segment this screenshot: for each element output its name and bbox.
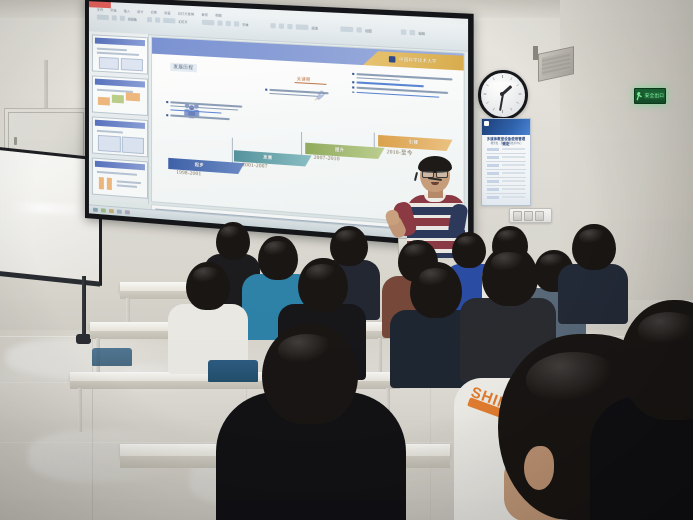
- timeline-year-4: 2010-至今: [387, 148, 413, 157]
- brand-tag-label: 中国科学技术大学: [399, 57, 437, 65]
- notice-poster: 多媒体教室设备使用管理规定 教务处 · 现代教育技术中心: [481, 118, 531, 206]
- exit-sign: 安全出口: [634, 88, 666, 104]
- status-icon-4[interactable]: [117, 210, 122, 214]
- slide-bullets-right: [356, 73, 456, 101]
- ribbon-tab-insert[interactable]: 插入: [124, 9, 130, 13]
- slide-thumbnail[interactable]: [92, 157, 148, 198]
- poster-subtitle: 教务处 · 现代教育技术中心: [488, 141, 524, 145]
- ribbon-group-label-drawing: 绘图: [365, 28, 371, 32]
- slide-thumbnail-pane[interactable]: [89, 31, 149, 204]
- slide-section-label: 发展历程: [170, 63, 196, 73]
- ribbon-group-drawing[interactable]: 绘图: [340, 26, 371, 33]
- running-man-icon: [636, 92, 643, 101]
- clock-minute-hand: [499, 94, 504, 111]
- light-switch-2[interactable]: [524, 211, 533, 221]
- poster-header-band: [482, 119, 530, 135]
- ribbon-tab-transitions[interactable]: 切换: [151, 10, 157, 14]
- status-icon-3[interactable]: [109, 209, 114, 213]
- timeline-label-2: 发展: [263, 154, 272, 161]
- light-switch-3[interactable]: [535, 211, 544, 221]
- status-icon-2[interactable]: [101, 208, 106, 212]
- slide-center-underline: [295, 82, 327, 85]
- ribbon-group-slides[interactable]: 幻灯片: [147, 17, 188, 24]
- ribbon-tab-animations[interactable]: 动画: [164, 11, 171, 15]
- light-switch-1[interactable]: [513, 211, 522, 221]
- ribbon-group-label-paragraph: 段落: [312, 26, 318, 30]
- ribbon-tab-design[interactable]: 设计: [137, 9, 143, 13]
- headset-mic-boom: [414, 172, 418, 181]
- timeline-label-4: 引领: [409, 139, 419, 146]
- student-ear: [524, 446, 554, 490]
- timeline-label-1: 起步: [195, 162, 204, 169]
- ribbon-tab-view[interactable]: 视图: [215, 13, 222, 17]
- status-icon-5[interactable]: [125, 210, 130, 214]
- whiteboard-glare: [11, 201, 85, 215]
- timeline-year-3: 2007-2010: [314, 156, 340, 163]
- ribbon-group-label-slides: 幻灯片: [178, 19, 187, 24]
- timeline-year-2: 2001-2007: [242, 163, 267, 170]
- ribbon-group-clipboard[interactable]: 剪贴板: [97, 15, 137, 22]
- slide-thumbnail[interactable]: [92, 75, 148, 116]
- light-switch-panel[interactable]: [509, 208, 552, 223]
- ribbon-tab-review[interactable]: 审阅: [201, 13, 208, 17]
- ribbon-group-paragraph[interactable]: 段落: [270, 23, 318, 30]
- wall-conduit: [44, 60, 48, 110]
- exit-sign-label: 安全出口: [645, 93, 665, 99]
- ribbon-group-label-font: 字体: [242, 22, 248, 26]
- ribbon-group-font[interactable]: 字体: [202, 20, 249, 27]
- whiteboard-caster: [76, 334, 91, 344]
- desk-leg: [378, 338, 382, 374]
- eyeglasses-right-lens: [436, 171, 448, 178]
- chair-back: [92, 348, 132, 366]
- ribbon-group-label-clipboard: 剪贴板: [128, 17, 137, 21]
- cabinet-lock-icon[interactable]: [14, 137, 17, 145]
- timeline-year-1: 1998-2001: [176, 171, 201, 178]
- status-icon-1[interactable]: [93, 208, 98, 212]
- timeline-label-3: 提升: [335, 147, 345, 154]
- ribbon-group-label-editing: 编辑: [418, 31, 425, 36]
- chair-back: [208, 360, 258, 382]
- speaker-grille: [542, 52, 570, 76]
- classroom-scene: 多媒体教室设备使用管理规定 教务处 · 现代教育技术中心 安全出口 文件 开始: [0, 0, 693, 520]
- student-torso: [558, 264, 628, 324]
- ribbon-group-editing[interactable]: 编辑: [401, 29, 425, 35]
- poster-logo-icon: [484, 121, 489, 126]
- ribbon-tab-home[interactable]: 开始: [110, 8, 116, 12]
- whiteboard-stand-leg: [82, 276, 86, 338]
- clock-center-pin: [500, 92, 504, 96]
- ribbon-tab-file[interactable]: 文件: [97, 8, 103, 12]
- slide-thumbnail[interactable]: [92, 34, 148, 74]
- slide-thumbnail[interactable]: [92, 116, 148, 157]
- ribbon-tab-slideshow[interactable]: 幻灯片放映: [178, 11, 194, 16]
- wall-clock: [478, 70, 528, 120]
- brand-logo-icon: [389, 56, 396, 63]
- desk-leg: [78, 388, 82, 432]
